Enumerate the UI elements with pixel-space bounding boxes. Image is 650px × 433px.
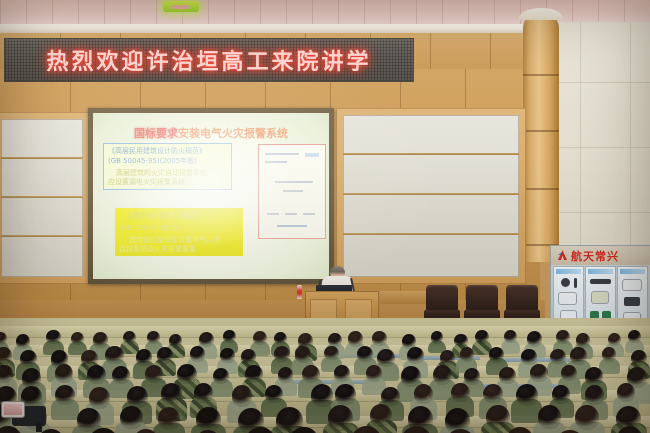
audience-member-head: [223, 330, 235, 343]
audience-member-head: [311, 384, 333, 407]
ceiling-seam: [338, 0, 339, 26]
audience-member-head: [486, 405, 510, 429]
audience-member-head: [157, 347, 173, 363]
audience-member-head: [530, 364, 548, 382]
audience-area: [0, 318, 650, 433]
audience-member-head: [431, 331, 443, 344]
audience-member-head: [55, 385, 75, 405]
audience-member-head: [20, 350, 37, 367]
audience-member: [617, 426, 650, 433]
audience-member-head: [0, 347, 12, 364]
audience-member-head: [576, 333, 590, 347]
audience-member-head: [506, 427, 534, 433]
column-band: [523, 130, 559, 132]
acoustic-panel-right-surface: [343, 115, 519, 277]
audience-member-head: [401, 426, 432, 433]
slide-textbox-highlight: 《建筑设计防火规范》 (GB 50016-2006) 建筑物应按规定设置电气火灾…: [115, 208, 243, 256]
slide-title: 国标要求安装电气火灾报警系统: [93, 125, 329, 141]
ceiling-seam: [468, 0, 469, 26]
audience-member: [245, 427, 290, 433]
camcorder: [2, 400, 50, 432]
audience-member-head: [602, 347, 616, 362]
audience-member-head: [475, 330, 489, 345]
ceiling-seam: [364, 0, 365, 26]
audience-member: [506, 427, 546, 433]
audience-member-head: [357, 346, 373, 362]
ceiling-seam: [52, 0, 53, 26]
audience-member-head: [628, 330, 641, 343]
ceiling-seam: [494, 0, 495, 26]
column-band: [523, 74, 559, 76]
slide-box2-line4: 监控系统及火灾报警装置: [119, 245, 239, 253]
audience-member-head: [213, 368, 229, 384]
audience-member-head: [177, 364, 197, 384]
slide-box1-line3: 高层建筑的火灾自动报警系统: [116, 169, 227, 177]
audience-member-head: [608, 333, 621, 347]
audience-member-head: [414, 384, 434, 404]
projection-screen: 国标要求安装电气火灾报警系统 《高层民用建筑设计防火规范》 (GB 50045-…: [93, 113, 329, 279]
audience-member-head: [158, 407, 180, 430]
audience-member-head: [169, 334, 182, 348]
acoustic-panel-right: [336, 108, 526, 284]
audience-member-head: [483, 384, 502, 404]
ceiling-seam: [416, 0, 417, 26]
audience-member-head: [133, 429, 160, 433]
exit-sign: [163, 1, 199, 12]
audience-member-head: [127, 386, 148, 407]
audience-member-head: [274, 332, 287, 346]
audience-member: [351, 426, 396, 433]
audience-member-head: [136, 349, 152, 366]
audience-member-head: [575, 405, 600, 430]
slide-box1-line2: (GB 50045-95)(2005年版): [108, 157, 227, 165]
audience-member-head: [445, 429, 476, 433]
lecture-hall-photo: 热烈欢迎许治垣高工来院讲学 国标要求安装电气火灾报警系统 《高层民用建筑设计防火…: [0, 0, 650, 433]
audience-member-head: [489, 347, 504, 363]
wall-tile-seam: [580, 22, 581, 254]
audience-member-head: [245, 427, 276, 433]
audience-member-head: [245, 365, 262, 383]
audience-member: [133, 429, 172, 433]
audience-member-head: [145, 365, 163, 383]
audience-member-head: [372, 331, 386, 346]
audience-member-head: [451, 383, 470, 403]
audience-member-head: [552, 385, 570, 403]
audience-member-head: [324, 346, 338, 361]
audience-member-head: [302, 365, 320, 384]
audience-member-head: [585, 367, 603, 385]
audience-member-head: [87, 365, 106, 384]
ceiling-seam: [104, 0, 105, 26]
audience-member-head: [370, 404, 392, 426]
audience-member: [575, 405, 611, 433]
audience-member-head: [232, 385, 253, 406]
ceiling-seam: [78, 0, 79, 26]
audience-member-head: [46, 330, 60, 344]
audience-member-head: [161, 383, 182, 405]
audience-member-head: [196, 407, 221, 432]
audience-member-head: [199, 332, 214, 347]
audience-member-head: [570, 347, 588, 365]
ceiling-seam: [286, 0, 287, 26]
audience-member-head: [516, 384, 538, 406]
audience-member: [401, 426, 446, 433]
audience-member-head: [550, 349, 565, 365]
projection-screen-frame: 国标要求安装电气火灾报警系统 《高层民用建筑设计防火规范》 (GB 50045-…: [88, 108, 334, 284]
audience-member-head: [194, 383, 213, 403]
audience-member-head: [0, 365, 13, 382]
audience-member-head: [351, 426, 382, 433]
audience-member-head: [241, 349, 256, 365]
audience-member-head: [366, 365, 382, 382]
audience-member: [445, 429, 490, 433]
audience-member-head: [120, 406, 143, 429]
audience-member-head: [289, 427, 318, 433]
ceiling-seam: [442, 0, 443, 26]
ceiling-seam: [260, 0, 261, 26]
audience-member-head: [585, 385, 605, 405]
wall-seam: [490, 33, 491, 69]
audience-member-head: [253, 331, 267, 345]
audience-member-head: [105, 346, 123, 365]
slide-textbox-primary: 《高层民用建筑设计防火规范》 (GB 50045-95)(2005年版) 高层建…: [103, 143, 232, 190]
audience-member-head: [265, 385, 283, 403]
ceiling-seam: [0, 0, 1, 26]
audience-member-head: [454, 334, 467, 347]
audience-member: [196, 407, 232, 433]
audience-member: [88, 428, 132, 433]
ceiling-seam: [130, 0, 131, 26]
audience-member-head: [499, 367, 516, 384]
audience-member-head: [220, 348, 234, 363]
column-band: [523, 188, 559, 190]
slide-title-main: 国标要求: [134, 127, 178, 140]
audience-member: [431, 331, 449, 352]
ceiling-seam: [208, 0, 209, 26]
audience-member-head: [407, 347, 424, 365]
ceiling-seam: [312, 0, 313, 26]
slide-box1-line4: 应设置漏电火灾报警系统: [108, 178, 227, 186]
slide-box2-line3: 建筑物应按规定设置电气火灾: [129, 236, 239, 244]
slide-box1-line1: 《高层民用建筑设计防火规范》: [108, 147, 227, 155]
audience-member-head: [190, 346, 205, 361]
water-bottle: [297, 285, 302, 299]
ceiling-seam: [26, 0, 27, 26]
audience-member-head: [556, 330, 570, 344]
audience-member-head: [55, 364, 73, 383]
audience-member-head: [295, 346, 311, 362]
display-board-header: 航天常兴: [551, 246, 650, 265]
audience-member-head: [328, 405, 353, 431]
audience-member-head: [617, 383, 635, 402]
wall-tile-seam: [630, 22, 631, 254]
audience-member-head: [278, 367, 294, 383]
ceiling-seam: [156, 0, 157, 26]
audience-member-head: [617, 426, 643, 433]
slide-box2-line1: 《建筑设计防火规范》: [123, 212, 239, 220]
banner-text: 热烈欢迎许治垣高工来院讲学: [5, 44, 413, 76]
slide-document-thumbnail: [258, 144, 326, 239]
audience-member-head: [433, 365, 452, 385]
audience-member-head: [334, 365, 350, 382]
audience-member-head: [521, 349, 536, 365]
slide-box2-line2: (GB 50016-2006): [119, 224, 239, 232]
audience-member-head: [274, 346, 290, 362]
audience-member-head: [631, 350, 647, 366]
audience-member-head: [88, 428, 118, 433]
audience-member-head: [538, 405, 561, 429]
audience-member-head: [123, 331, 136, 344]
hangtian-changxing-logo-icon: [556, 249, 569, 262]
audience-member-head: [460, 347, 475, 362]
acoustic-panel-left: [0, 112, 90, 284]
wall-seam: [430, 33, 431, 69]
ceiling-seam: [390, 0, 391, 26]
audience-member-head: [527, 331, 542, 347]
wooden-column: [523, 12, 559, 262]
audience-member: [628, 330, 647, 352]
acoustic-panel-left-surface: [1, 119, 83, 277]
ceiling-seam: [234, 0, 235, 26]
led-welcome-banner: 热烈欢迎许治垣高工来院讲学: [4, 38, 414, 82]
audience-member-head: [71, 332, 84, 345]
audience-member-head: [348, 331, 363, 346]
audience-member-head: [335, 384, 355, 405]
audience-member: [289, 427, 332, 433]
slide-title-sub: 安装电气火灾报警系统: [178, 127, 288, 140]
audience-member-head: [89, 387, 110, 408]
display-board-brand: 航天常兴: [571, 248, 649, 264]
